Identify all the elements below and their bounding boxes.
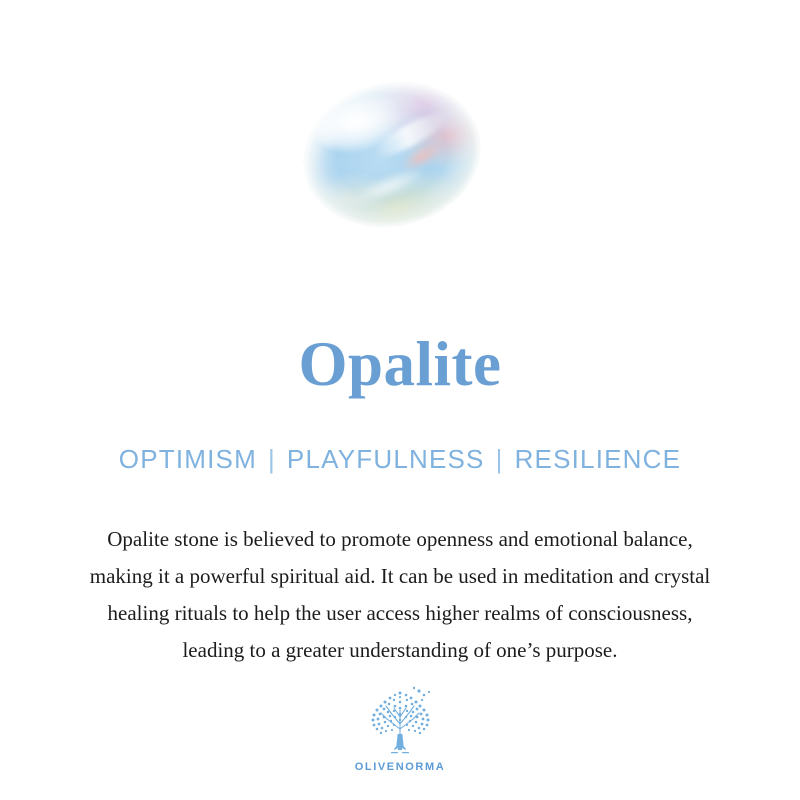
brand-logo: OLIVENORMA: [0, 684, 800, 773]
page-title: Opalite: [0, 333, 800, 396]
product-image-area: [0, 0, 800, 300]
description-line: healing rituals to help the user access …: [20, 595, 780, 632]
description-line: leading to a greater understanding of on…: [20, 632, 780, 669]
opalite-stone-image: [289, 65, 495, 244]
keyword-separator: |: [485, 444, 515, 475]
brand-wordmark: OLIVENORMA: [0, 761, 800, 773]
product-description: Opalite stone is believed to promote ope…: [20, 521, 780, 669]
tree-icon: [361, 684, 439, 758]
keyword-playfulness: PLAYFULNESS: [287, 444, 485, 474]
description-line: making it a powerful spiritual aid. It c…: [20, 558, 780, 595]
product-info-card: Opalite OPTIMISM|PLAYFULNESS|RESILIENCE …: [0, 0, 800, 800]
keyword-resilience: RESILIENCE: [515, 444, 682, 474]
keyword-separator: |: [257, 444, 287, 475]
keyword-optimism: OPTIMISM: [119, 444, 257, 474]
description-line: Opalite stone is believed to promote ope…: [20, 521, 780, 558]
keyword-list: OPTIMISM|PLAYFULNESS|RESILIENCE: [0, 444, 800, 475]
